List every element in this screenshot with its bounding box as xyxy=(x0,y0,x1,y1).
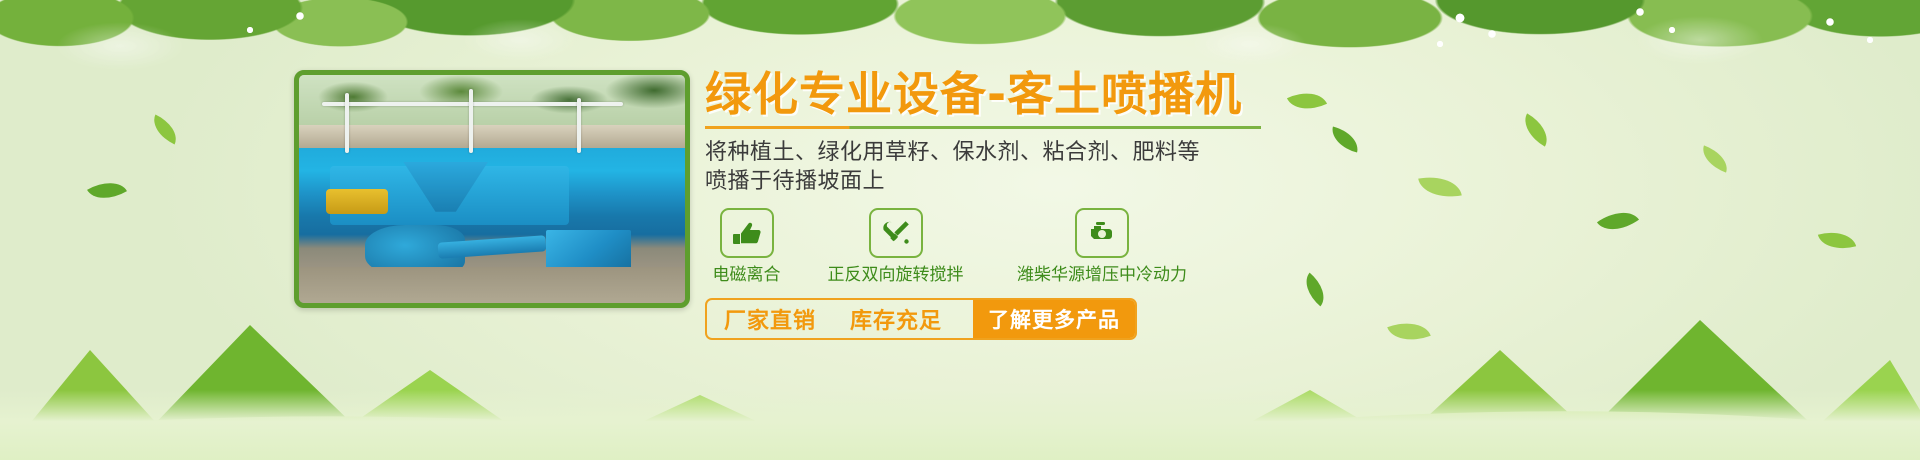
title-divider xyxy=(705,126,1261,129)
feature-list: 电磁离合 正反双向旋转搅拌 xyxy=(705,208,1535,285)
photo-background-wall xyxy=(299,125,685,148)
photo-rail xyxy=(577,98,581,153)
photo-yellow-drum xyxy=(326,189,388,214)
cta-bar: 厂家直销 库存充足 了解更多产品 xyxy=(705,298,1137,340)
grass-foreground-decoration xyxy=(0,390,1920,460)
photo-rail xyxy=(469,89,473,153)
banner-title: 绿化专业设备-客土喷播机 xyxy=(705,66,1535,122)
wrench-screwdriver-icon xyxy=(881,219,911,247)
product-photo[interactable] xyxy=(294,70,690,308)
feature-icon-box xyxy=(1075,208,1129,258)
leaf-decoration xyxy=(1698,145,1732,172)
cta-spacer xyxy=(959,300,973,338)
feature-icon-box xyxy=(720,208,774,258)
feature-item-bidirectional-mixing[interactable]: 正反双向旋转搅拌 xyxy=(810,208,981,285)
feature-icon-box xyxy=(869,208,923,258)
photo-control-box xyxy=(546,230,631,271)
learn-more-button[interactable]: 了解更多产品 xyxy=(973,300,1135,338)
thumbs-up-icon xyxy=(732,220,762,246)
banner-subtitle-line1: 将种植土、绿化用草籽、保水剂、粘合剂、肥料等 xyxy=(705,138,1535,167)
product-photo-image xyxy=(299,75,685,303)
feature-item-weichai-engine[interactable]: 潍柴华源增压中冷动力 xyxy=(1003,208,1201,285)
banner-subtitle-line2: 喷播于待播坡面上 xyxy=(705,167,1535,196)
feature-label: 电磁离合 xyxy=(713,265,781,285)
photo-rail xyxy=(345,93,349,152)
feature-label: 正反双向旋转搅拌 xyxy=(828,265,964,285)
cta-slogan-left: 厂家直销 xyxy=(707,300,833,338)
promo-banner: 绿化专业设备-客土喷播机 将种植土、绿化用草籽、保水剂、粘合剂、肥料等 喷播于待… xyxy=(0,0,1920,460)
feature-label: 潍柴华源增压中冷动力 xyxy=(1017,265,1187,285)
photo-ground xyxy=(299,267,685,303)
banner-content: 绿化专业设备-客土喷播机 将种植土、绿化用草籽、保水剂、粘合剂、肥料等 喷播于待… xyxy=(705,66,1535,340)
leaf-decoration xyxy=(87,173,127,208)
cta-slogan-right: 库存充足 xyxy=(833,300,959,338)
engine-gear-icon xyxy=(1087,220,1117,246)
feature-item-electromagnetic-clutch[interactable]: 电磁离合 xyxy=(705,208,788,285)
